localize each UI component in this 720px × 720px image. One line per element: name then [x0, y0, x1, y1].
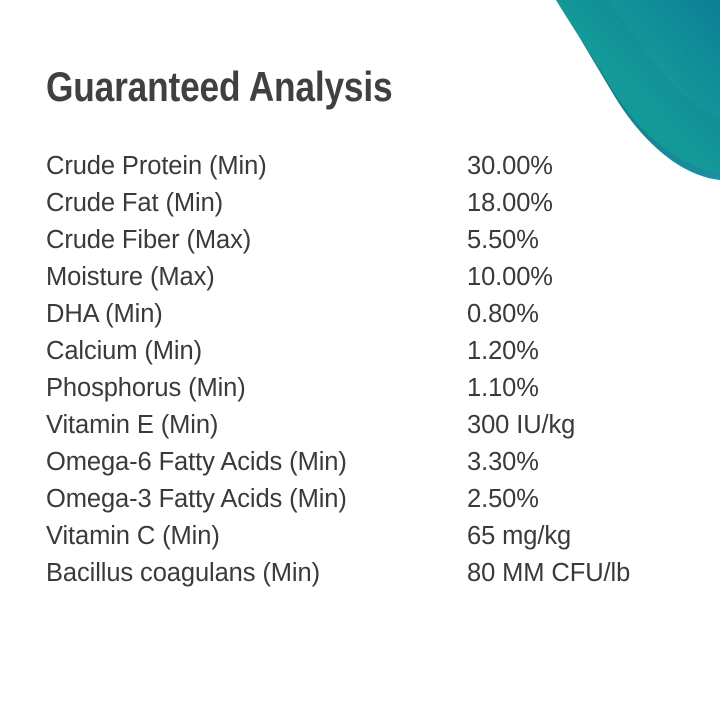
nutrient-label: Crude Fat (Min) [46, 185, 467, 222]
nutrient-value: 5.50% [467, 222, 686, 259]
table-row: Moisture (Max) 10.00% [46, 259, 686, 296]
table-row: Crude Fat (Min) 18.00% [46, 185, 686, 222]
nutrient-label: Moisture (Max) [46, 259, 467, 296]
nutrient-value: 300 IU/kg [467, 407, 686, 444]
nutrient-value: 18.00% [467, 185, 686, 222]
table-row: Omega-3 Fatty Acids (Min) 2.50% [46, 481, 686, 518]
table-row: Calcium (Min) 1.20% [46, 333, 686, 370]
table-row: Crude Protein (Min) 30.00% [46, 148, 686, 185]
nutrient-label: Omega-6 Fatty Acids (Min) [46, 444, 467, 481]
nutrient-value: 3.30% [467, 444, 686, 481]
nutrient-value: 80 MM CFU/lb [467, 555, 686, 592]
nutrient-label: Bacillus coagulans (Min) [46, 555, 467, 592]
guaranteed-analysis-table: Crude Protein (Min) 30.00% Crude Fat (Mi… [46, 148, 686, 592]
nutrient-label: Vitamin E (Min) [46, 407, 467, 444]
nutrient-label: Calcium (Min) [46, 333, 467, 370]
page-title: Guaranteed Analysis [46, 64, 392, 110]
table-row: Crude Fiber (Max) 5.50% [46, 222, 686, 259]
nutrient-label: Phosphorus (Min) [46, 370, 467, 407]
table-row: Vitamin E (Min) 300 IU/kg [46, 407, 686, 444]
nutrient-value: 2.50% [467, 481, 686, 518]
nutrient-label: Omega-3 Fatty Acids (Min) [46, 481, 467, 518]
table-row: DHA (Min) 0.80% [46, 296, 686, 333]
table-row: Phosphorus (Min) 1.10% [46, 370, 686, 407]
guaranteed-analysis-panel: Guaranteed Analysis Crude Protein (Min) … [0, 0, 720, 720]
nutrient-label: Crude Fiber (Max) [46, 222, 467, 259]
nutrient-value: 1.20% [467, 333, 686, 370]
nutrient-label: Crude Protein (Min) [46, 148, 467, 185]
nutrient-value: 1.10% [467, 370, 686, 407]
table-row: Bacillus coagulans (Min) 80 MM CFU/lb [46, 555, 686, 592]
nutrient-value: 30.00% [467, 148, 686, 185]
nutrient-value: 65 mg/kg [467, 518, 686, 555]
nutrient-label: DHA (Min) [46, 296, 467, 333]
nutrient-label: Vitamin C (Min) [46, 518, 467, 555]
table-row: Vitamin C (Min) 65 mg/kg [46, 518, 686, 555]
table-row: Omega-6 Fatty Acids (Min) 3.30% [46, 444, 686, 481]
nutrient-value: 10.00% [467, 259, 686, 296]
nutrient-value: 0.80% [467, 296, 686, 333]
